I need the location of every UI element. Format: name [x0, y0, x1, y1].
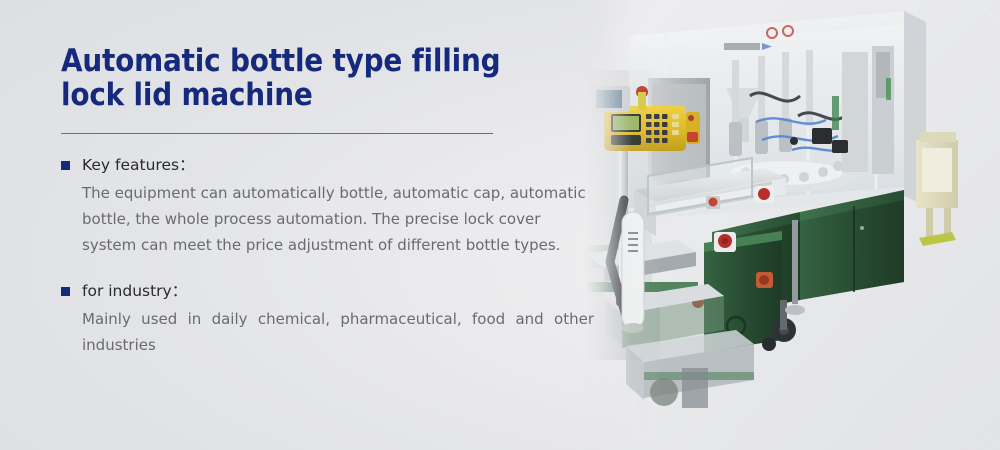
feature-list: Key features： The equipment can automati…	[61, 156, 601, 358]
text-column: Automatic bottle type filling lock lid m…	[61, 44, 601, 112]
feature-heading: for industry：	[61, 282, 601, 300]
title-divider	[61, 133, 493, 134]
feature-title: Key features：	[82, 156, 195, 174]
feature-description: Mainly used in daily chemical, pharmaceu…	[82, 306, 594, 358]
product-photo	[586, 0, 1000, 450]
feature-heading: Key features：	[61, 156, 601, 174]
square-bullet-icon	[61, 161, 70, 170]
square-bullet-icon	[61, 287, 70, 296]
machine-illustration	[586, 0, 1000, 450]
feature-block-for-industry: for industry： Mainly used in daily chemi…	[61, 282, 601, 358]
page-title: Automatic bottle type filling lock lid m…	[61, 44, 601, 112]
product-banner: Automatic bottle type filling lock lid m…	[0, 0, 1000, 450]
feature-title: for industry：	[82, 282, 187, 300]
feature-block-key-features: Key features： The equipment can automati…	[61, 156, 601, 258]
feature-description: The equipment can automatically bottle, …	[82, 180, 594, 258]
